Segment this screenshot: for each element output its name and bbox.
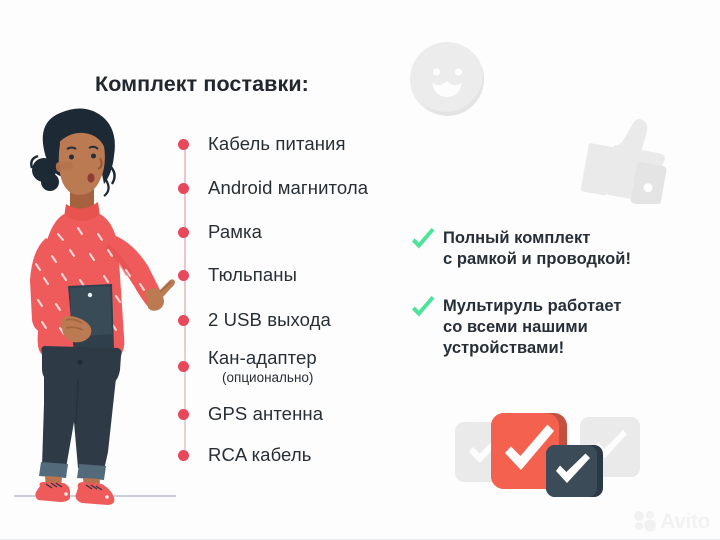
list-item: Рамка [178,222,262,243]
check-icon [408,225,438,255]
benefit-item: Полный комплект с рамкой и проводкой! [408,228,631,270]
list-item-label: GPS антенна [208,403,323,424]
check-icon [408,293,438,323]
bullet-dot-icon [178,270,189,281]
list-item: Android магнитола [178,178,368,199]
list-item-sublabel: (опционально) [208,370,317,386]
avito-watermark: Avito [633,510,710,532]
list-item-label: Тюльпаны [208,264,297,285]
list-item-label: Кан-адаптер [208,347,317,368]
bullet-dot-icon [178,139,189,150]
bullet-dot-icon [178,227,189,238]
bullet-dot-icon [178,315,189,326]
benefit-label: Мультируль работает со всеми нашими устр… [443,296,622,358]
list-item-label: Android магнитола [208,177,368,198]
list-item-label: 2 USB выхода [208,309,331,330]
list-item: Кан-адаптер (опционально) [178,348,317,386]
thumbs-up-icon [578,112,680,204]
list-item-label: Кабель питания [208,133,346,154]
avito-dots-icon [633,510,657,532]
page-title: Комплект поставки: [95,72,309,97]
list-item: RCA кабель [178,445,311,466]
checkbox-group-icon [455,405,640,497]
bullet-dot-icon [178,183,189,194]
list-item: 2 USB выхода [178,310,331,331]
woman-presenter-illustration [8,104,178,516]
benefit-label: Полный комплект с рамкой и проводкой! [443,228,631,270]
watermark-label: Avito [660,511,710,532]
list-item-label: Рамка [208,221,262,242]
list-item: Тюльпаны [178,265,297,286]
list-item: Кабель питания [178,134,346,155]
bullet-dot-icon [178,409,189,420]
list-item-label: RCA кабель [208,444,311,465]
benefit-item: Мультируль работает со всеми нашими устр… [408,296,622,358]
bullet-dot-icon [178,450,189,461]
list-item: GPS антенна [178,404,323,425]
smiley-face-icon [408,40,486,118]
bullet-dot-icon [178,361,189,372]
promo-banner: Комплект поставки: Кабель питания Androi… [0,0,720,540]
